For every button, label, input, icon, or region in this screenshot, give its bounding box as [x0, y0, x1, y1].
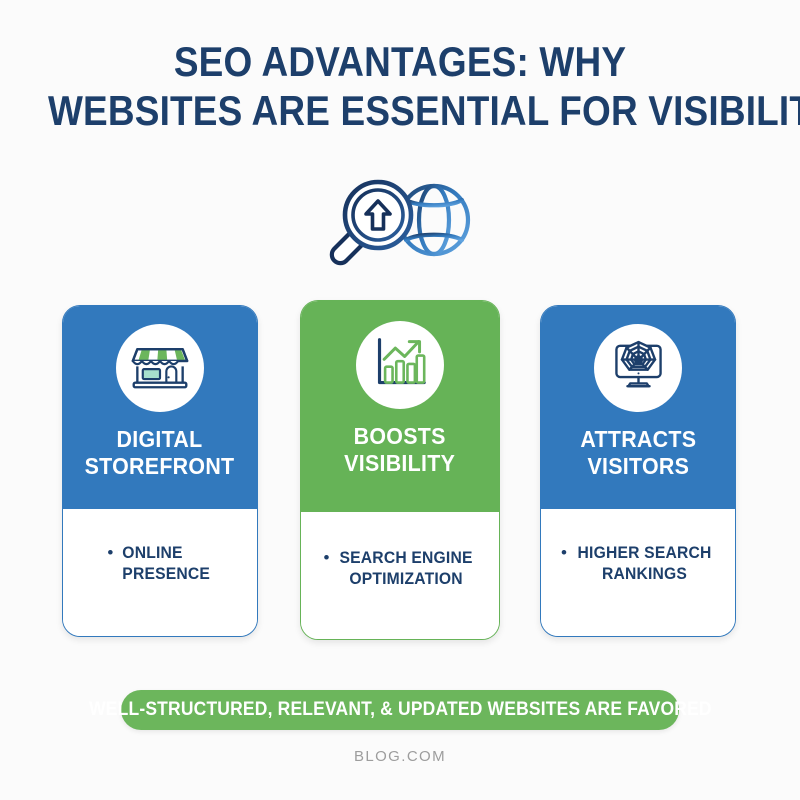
card-body: • ONLINE PRESENCE [63, 509, 257, 636]
benefit-cards: DIGITAL STOREFRONT • ONLINE PRESENCE [0, 300, 800, 645]
title-line-2: WEBSITES ARE ESSENTIAL FOR VISIBILITY [48, 89, 752, 134]
icon-badge [116, 324, 204, 412]
infographic-canvas: SEO ADVANTAGES: WHY WEBSITES ARE ESSENTI… [0, 0, 800, 800]
bullet-item: • ONLINE PRESENCE [97, 543, 222, 585]
bullet-line-1: SEARCH ENGINE [340, 549, 473, 567]
icon-badge [594, 324, 682, 412]
icon-badge [356, 321, 444, 409]
card-digital-storefront[interactable]: DIGITAL STOREFRONT • ONLINE PRESENCE [62, 305, 258, 637]
card-title-line-1: BOOSTS [345, 423, 456, 450]
summary-banner-text: WELL-STRUCTURED, RELEVANT, & UPDATED WEB… [89, 699, 712, 721]
card-title-line-2: STOREFRONT [85, 453, 235, 480]
bullet-item: • SEARCH ENGINE OPTIMIZATION [313, 548, 486, 590]
monitor-web-icon [610, 339, 667, 398]
card-header: DIGITAL STOREFRONT [63, 306, 257, 509]
bullet-item: • HIGHER SEARCH RANKINGS [551, 543, 725, 585]
card-title-line-2: VISIBILITY [345, 450, 456, 477]
card-title: DIGITAL STOREFRONT [85, 426, 235, 480]
site-credit: BLOG.COM [0, 748, 800, 765]
bullet-dot-icon: • [323, 548, 329, 567]
page-title: SEO ADVANTAGES: WHY WEBSITES ARE ESSENTI… [0, 40, 800, 133]
summary-banner: WELL-STRUCTURED, RELEVANT, & UPDATED WEB… [121, 690, 679, 730]
card-body: • SEARCH ENGINE OPTIMIZATION [301, 512, 499, 639]
bullet-line-2: PRESENCE [123, 565, 211, 583]
card-body: • HIGHER SEARCH RANKINGS [541, 509, 735, 636]
growth-chart-icon [372, 336, 428, 395]
bullet-dot-icon: • [561, 543, 567, 562]
magnifier-globe-icon [310, 168, 490, 272]
title-line-1: SEO ADVANTAGES: WHY [48, 40, 752, 85]
card-title-line-2: VISITORS [580, 453, 696, 480]
card-title-line-1: DIGITAL [85, 426, 235, 453]
card-header: ATTRACTS VISITORS [541, 306, 735, 509]
storefront-icon [131, 338, 189, 398]
card-title: ATTRACTS VISITORS [580, 426, 696, 480]
bullet-text: SEARCH ENGINE OPTIMIZATION [340, 548, 473, 590]
card-header: BOOSTS VISIBILITY [301, 301, 499, 512]
bullet-line-2: OPTIMIZATION [350, 570, 463, 588]
card-attracts-visitors[interactable]: ATTRACTS VISITORS • HIGHER SEARCH RANKIN… [540, 305, 736, 637]
bullet-line-1: ONLINE [123, 544, 183, 562]
bullet-line-1: HIGHER SEARCH [577, 544, 711, 562]
card-title: BOOSTS VISIBILITY [345, 423, 456, 477]
bullet-text: ONLINE PRESENCE [123, 543, 211, 585]
card-boosts-visibility[interactable]: BOOSTS VISIBILITY • SEARCH ENGINE OPTIMI… [300, 300, 500, 640]
bullet-line-2: RANKINGS [602, 565, 687, 583]
bullet-dot-icon: • [107, 543, 113, 562]
card-title-line-1: ATTRACTS [580, 426, 696, 453]
bullet-text: HIGHER SEARCH RANKINGS [577, 543, 711, 585]
